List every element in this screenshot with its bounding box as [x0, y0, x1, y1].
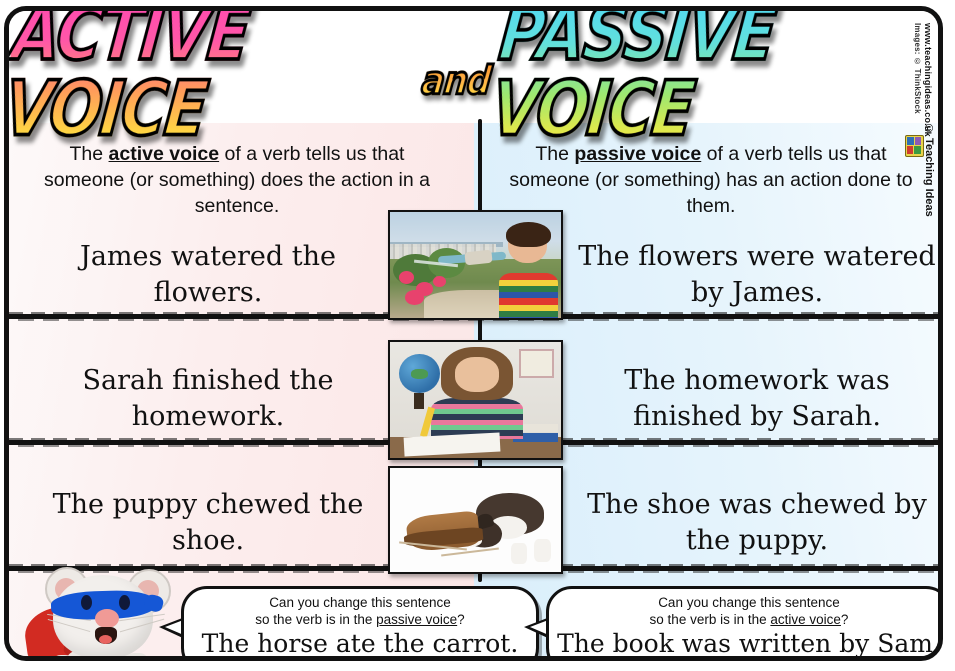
poster: ACTIVE VOICE and PASSIVE VOICE www.teach…	[0, 0, 955, 671]
title-active-voice: ACTIVE VOICE	[4, 6, 424, 147]
poster-frame: ACTIVE VOICE and PASSIVE VOICE www.teach…	[4, 6, 943, 661]
bubble-left-question-line1: Can you change this sentence	[269, 595, 451, 610]
photo-content	[390, 468, 561, 572]
bubble-right-question: Can you change this sentence so the verb…	[549, 595, 943, 628]
superhero-mouse-mascot	[23, 567, 183, 661]
bubble-left-question-suffix: ?	[457, 612, 465, 627]
bubble-left-question-prefix: so the verb is in the	[255, 612, 376, 627]
bubble-left-voice-term: passive voice	[376, 612, 457, 627]
poster-title: ACTIVE VOICE and PASSIVE VOICE	[9, 25, 938, 117]
credits-website[interactable]: www.teachingideas.co.uk	[922, 23, 934, 137]
bubble-right-question-suffix: ?	[841, 612, 849, 627]
active-voice-definition: The active voice of a verb tells us that…	[27, 141, 447, 219]
bubble-right-sentence: The book was written by Sam.	[549, 629, 943, 659]
question-bubble-right[interactable]: Can you change this sentence so the verb…	[546, 586, 943, 661]
passive-voice-definition: The passive voice of a verb tells us tha…	[501, 141, 921, 219]
active-sentence-1: James watered the flowers.	[23, 239, 393, 311]
photo-content	[390, 342, 561, 458]
bubble-right-voice-term: active voice	[770, 612, 841, 627]
title-passive-voice: PASSIVE VOICE	[488, 6, 943, 147]
girl-doing-homework-photo	[388, 340, 563, 460]
title-and: and	[419, 58, 492, 104]
mouse-eye-right	[119, 595, 130, 610]
passive-sentence-3: The shoe was chewed by the puppy.	[569, 487, 943, 559]
passive-voice-term: passive voice	[574, 143, 701, 165]
question-bubble-left[interactable]: Can you change this sentence so the verb…	[181, 586, 539, 661]
active-sentence-2: Sarah finished the homework.	[23, 363, 393, 435]
active-voice-term: active voice	[109, 143, 220, 165]
bubble-left-sentence: The horse ate the carrot.	[184, 629, 536, 659]
definition-prefix: The	[535, 143, 574, 165]
bubble-left-question: Can you change this sentence so the verb…	[184, 595, 536, 628]
mouse-tongue	[99, 635, 112, 644]
active-sentence-3: The puppy chewed the shoe.	[23, 487, 393, 559]
mouse-arm-right	[127, 653, 147, 661]
bubble-right-question-prefix: so the verb is in the	[650, 612, 771, 627]
passive-sentence-1: The flowers were watered by James.	[569, 239, 943, 311]
photo-content	[390, 212, 561, 318]
puppy-chewing-shoe-photo	[388, 466, 563, 574]
boy-watering-flowers-photo	[388, 210, 563, 320]
mouse-arm-left	[53, 655, 73, 661]
bubble-right-question-line1: Can you change this sentence	[658, 595, 840, 610]
passive-sentence-2: The homework was finished by Sarah.	[569, 363, 943, 435]
mouse-eye-left	[81, 595, 92, 610]
credits-brand: © Teaching Ideas	[923, 123, 935, 217]
definition-prefix: The	[70, 143, 109, 165]
mouse-nose	[95, 609, 119, 628]
credits-images: Images: © ThinkStock	[911, 23, 923, 114]
